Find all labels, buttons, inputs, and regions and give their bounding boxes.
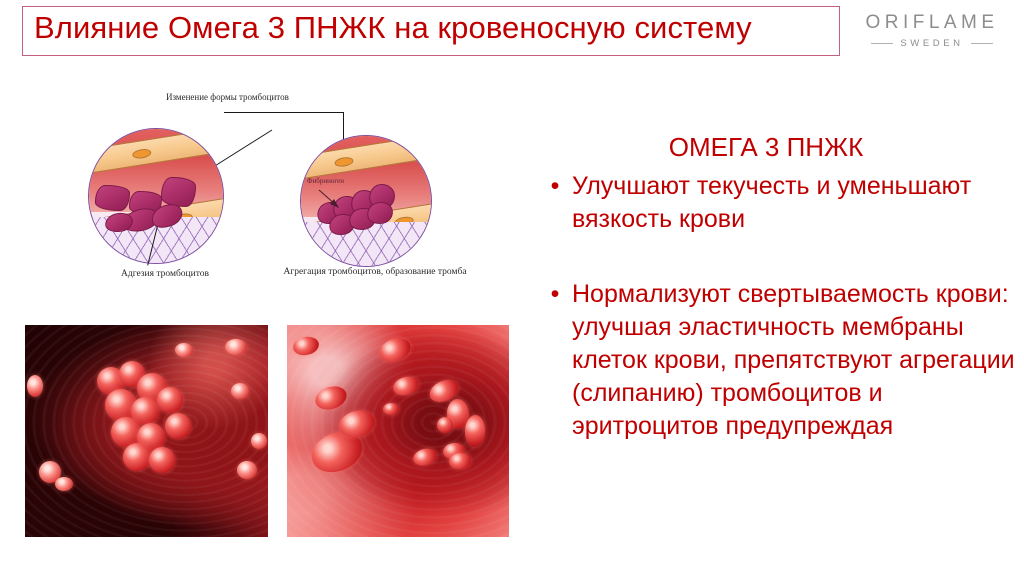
red-blood-cell (165, 413, 191, 439)
logo-rule-right (971, 43, 993, 44)
endothelial-nucleus (132, 148, 152, 160)
logo-rule-left (871, 43, 893, 44)
red-blood-cell (55, 477, 73, 491)
logo-wordmark: ORIFLAME (862, 12, 1002, 34)
photo-clumped-blood-cells (25, 325, 268, 537)
red-blood-cell (237, 461, 257, 479)
oriflame-logo: ORIFLAME SWEDEN (862, 12, 1002, 49)
red-blood-cell (231, 383, 249, 399)
bullet-marker: • (530, 278, 572, 311)
bullet-item: • Нормализуют свертываемость крови: улуч… (530, 278, 1024, 443)
content-heading: ОМЕГА 3 ПНЖК (530, 130, 1024, 164)
page-title: Влияние Омега 3 ПНЖК на кровеносную сист… (34, 8, 824, 48)
photo-flowing-blood-cells (287, 325, 509, 537)
diagram-callout-fibrinogen: Фибриноген (307, 176, 367, 187)
bullet-text: Улучшают текучесть и уменьшают вязкость … (572, 170, 1024, 236)
red-blood-cell (149, 447, 175, 473)
endothelial-nucleus (334, 156, 354, 168)
diagram-circle-aggregation: Фибриноген (300, 135, 432, 267)
red-blood-cell (175, 343, 193, 357)
content-column: ОМЕГА 3 ПНЖК • Улучшают текучесть и умен… (530, 130, 1024, 443)
diagram-callout-shape-change: Изменение формы тромбоцитов (166, 92, 296, 103)
bullet-spacer (530, 236, 1024, 272)
logo-subtitle-row: SWEDEN (862, 38, 1002, 49)
callout-leader-line (224, 112, 344, 113)
platelet (95, 185, 130, 211)
red-blood-cell (251, 433, 267, 449)
red-blood-cell (123, 443, 151, 471)
bullet-item: • Улучшают текучесть и уменьшают вязкост… (530, 170, 1024, 236)
fibrinogen-arrow (317, 188, 343, 210)
diagram-caption-aggregation: Агрегация тромбоцитов, образование тромб… (275, 266, 475, 278)
red-blood-cell (437, 417, 453, 433)
diagram-circle-adhesion (88, 128, 224, 264)
logo-subtitle: SWEDEN (900, 38, 963, 49)
bullet-marker: • (530, 170, 572, 203)
red-blood-cell (157, 387, 183, 413)
red-blood-cell (225, 339, 247, 355)
platelet-diagram: Изменение формы тромбоцитов (60, 86, 520, 308)
red-blood-cell (383, 403, 399, 415)
platelet (161, 177, 196, 207)
diagram-caption-adhesion: Адгезия тромбоцитов (70, 268, 260, 280)
bullet-text: Нормализуют свертываемость крови: улучша… (572, 278, 1024, 443)
red-blood-cell (27, 375, 43, 397)
